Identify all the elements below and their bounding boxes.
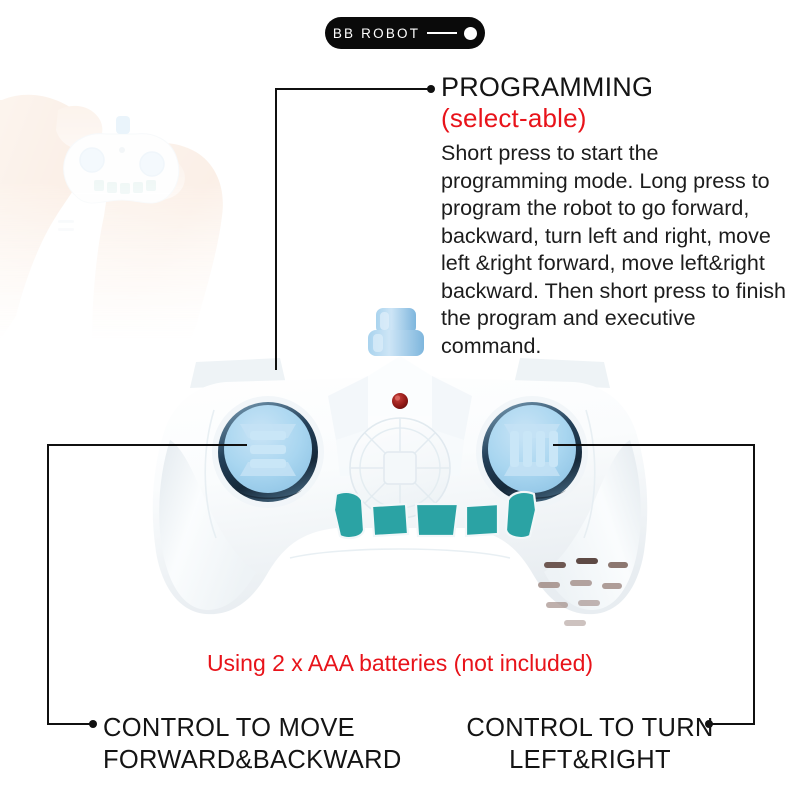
brand-dot-icon (464, 27, 477, 40)
programming-description: Short press to start the programming mod… (441, 140, 787, 360)
teal-button-1 (334, 492, 364, 538)
product-infographic: BB ROBOT (0, 0, 800, 800)
antenna-icon (368, 308, 424, 356)
label-control-turn-line1: CONTROL TO TURN (452, 712, 728, 744)
power-led-icon (392, 393, 408, 409)
label-control-move-line2: FORWARD&BACKWARD (103, 744, 402, 776)
label-control-turn: CONTROL TO TURN LEFT&RIGHT (452, 712, 728, 776)
callout-line-programming-vertical (275, 88, 277, 370)
inset-hands-photo (0, 40, 235, 340)
brand-dash-icon (427, 32, 457, 34)
teal-button-4 (466, 504, 498, 536)
callout-line-left-bottom (47, 723, 93, 725)
programming-title: PROGRAMMING (441, 72, 653, 103)
teal-button-3 (416, 504, 458, 536)
right-joystick-button (476, 396, 588, 508)
brand-badge: BB ROBOT (325, 17, 485, 49)
callout-line-right-top (553, 444, 755, 446)
callout-dot-left (89, 720, 97, 728)
callout-dot-programming (427, 85, 435, 93)
label-control-move-line1: CONTROL TO MOVE (103, 712, 402, 744)
brand-name: BB ROBOT (333, 26, 420, 41)
programming-subtitle: (select-able) (441, 103, 587, 134)
callout-line-left-top (47, 444, 247, 446)
battery-note: Using 2 x AAA batteries (not included) (0, 650, 800, 677)
teal-button-2 (372, 504, 408, 536)
left-joystick-button (212, 396, 324, 508)
teal-button-5 (506, 492, 536, 538)
callout-line-right-vertical (753, 444, 755, 724)
callout-line-programming-horizontal (275, 88, 432, 90)
callout-line-left-vertical (47, 444, 49, 724)
label-control-turn-line2: LEFT&RIGHT (452, 744, 728, 776)
label-control-move: CONTROL TO MOVE FORWARD&BACKWARD (103, 712, 402, 776)
